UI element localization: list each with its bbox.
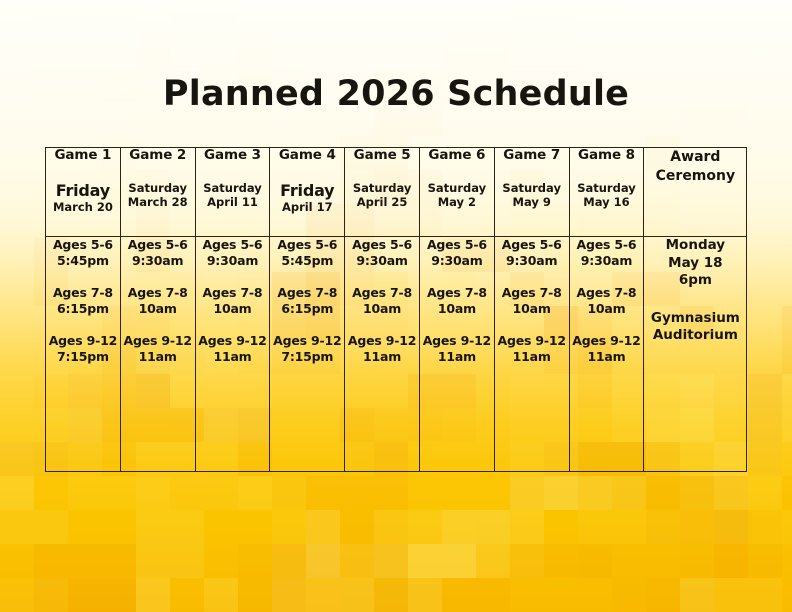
age-group-label: Ages 9-12 [196, 333, 270, 349]
game-time: 9:30am [345, 253, 419, 269]
game-date: March 20 [46, 200, 120, 214]
award-venue-line-1: Gymnasium [644, 310, 746, 328]
game-times-cell: Ages 5-65:45pmAges 7-86:15pmAges 9-127:1… [270, 237, 345, 472]
game-time: 11am [420, 349, 494, 365]
game-date: May 16 [570, 195, 644, 209]
game-time: 10am [495, 301, 569, 317]
award-ceremony-header-cell: AwardCeremony [644, 148, 747, 237]
game-date-block: SaturdayMay 2 [420, 181, 494, 209]
game-time: 9:30am [196, 253, 270, 269]
game-day-of-week: Saturday [345, 181, 419, 195]
game-date-block: SaturdayMay 9 [495, 181, 569, 209]
game-times-cell: Ages 5-69:30amAges 7-810amAges 9-1211am [120, 237, 195, 472]
age-group-label: Ages 5-6 [270, 237, 344, 253]
age-group-label: Ages 7-8 [270, 285, 344, 301]
age-group-slot: Ages 5-69:30am [345, 237, 419, 268]
game-name: Game 7 [495, 148, 569, 164]
game-time: 10am [420, 301, 494, 317]
game-date: March 28 [121, 195, 195, 209]
game-time: 10am [570, 301, 644, 317]
game-date-block: FridayMarch 20 [46, 181, 120, 215]
game-times-cell: Ages 5-69:30amAges 7-810amAges 9-1211am [494, 237, 569, 472]
game-header-cell: Game 8SaturdayMay 16 [569, 148, 644, 237]
table-header-row: Game 1FridayMarch 20Game 2SaturdayMarch … [46, 148, 747, 237]
game-header-cell: Game 5SaturdayApril 25 [345, 148, 420, 237]
award-time: 6pm [644, 272, 746, 290]
game-name: Game 3 [196, 148, 270, 164]
age-group-label: Ages 7-8 [196, 285, 270, 301]
age-group-slot: Ages 5-69:30am [570, 237, 644, 268]
game-date: April 17 [270, 200, 344, 214]
age-group-label: Ages 7-8 [121, 285, 195, 301]
age-group-slot: Ages 9-1211am [570, 333, 644, 364]
age-group-slot: Ages 5-69:30am [495, 237, 569, 268]
game-time: 10am [196, 301, 270, 317]
age-group-label: Ages 5-6 [420, 237, 494, 253]
age-group-label: Ages 9-12 [495, 333, 569, 349]
schedule-poster: Planned 2026 Schedule Game 1FridayMarch … [0, 0, 792, 612]
age-group-label: Ages 5-6 [196, 237, 270, 253]
age-group-slot: Ages 7-810am [570, 285, 644, 316]
game-day-of-week: Friday [46, 181, 120, 201]
age-group-slot: Ages 7-810am [345, 285, 419, 316]
game-date: May 9 [495, 195, 569, 209]
age-group-label: Ages 9-12 [345, 333, 419, 349]
game-time: 5:45pm [270, 253, 344, 269]
age-group-label: Ages 5-6 [495, 237, 569, 253]
age-group-slot: Ages 5-69:30am [121, 237, 195, 268]
game-day-of-week: Saturday [196, 181, 270, 195]
age-group-slot: Ages 5-69:30am [420, 237, 494, 268]
game-date-block: FridayApril 17 [270, 181, 344, 215]
award-ceremony-details-cell: MondayMay 186pmGymnasiumAuditorium [644, 237, 747, 472]
game-time: 6:15pm [270, 301, 344, 317]
game-date: April 25 [345, 195, 419, 209]
age-group-slot: Ages 7-810am [121, 285, 195, 316]
game-day-of-week: Saturday [420, 181, 494, 195]
game-time: 11am [121, 349, 195, 365]
age-group-slot: Ages 9-1211am [345, 333, 419, 364]
game-date-block: SaturdayApril 25 [345, 181, 419, 209]
table-body-row: Ages 5-65:45pmAges 7-86:15pmAges 9-127:1… [46, 237, 747, 472]
age-group-slot: Ages 7-86:15pm [46, 285, 120, 316]
award-header-line-1: Award [644, 148, 746, 167]
game-name: Game 2 [121, 148, 195, 164]
game-header-cell: Game 6SaturdayMay 2 [419, 148, 494, 237]
age-group-slot: Ages 9-1211am [121, 333, 195, 364]
game-time: 10am [121, 301, 195, 317]
game-day-of-week: Saturday [570, 181, 644, 195]
age-group-label: Ages 9-12 [46, 333, 120, 349]
game-time: 9:30am [570, 253, 644, 269]
award-venue-line-2: Auditorium [644, 327, 746, 345]
age-group-label: Ages 5-6 [121, 237, 195, 253]
age-group-label: Ages 7-8 [46, 285, 120, 301]
age-group-label: Ages 7-8 [570, 285, 644, 301]
age-group-label: Ages 7-8 [420, 285, 494, 301]
award-day-of-week: Monday [644, 237, 746, 255]
game-name: Game 6 [420, 148, 494, 164]
age-group-slot: Ages 9-1211am [420, 333, 494, 364]
game-header-cell: Game 1FridayMarch 20 [46, 148, 121, 237]
award-header-line-2: Ceremony [644, 167, 746, 186]
age-group-slot: Ages 5-65:45pm [270, 237, 344, 268]
age-group-label: Ages 7-8 [345, 285, 419, 301]
age-group-label: Ages 9-12 [570, 333, 644, 349]
game-date-block: SaturdayMarch 28 [121, 181, 195, 209]
game-day-of-week: Friday [270, 181, 344, 201]
age-group-slot: Ages 5-69:30am [196, 237, 270, 268]
page-title: Planned 2026 Schedule [0, 74, 792, 114]
game-times-cell: Ages 5-69:30amAges 7-810amAges 9-1211am [195, 237, 270, 472]
game-time: 7:15pm [270, 349, 344, 365]
game-time: 11am [196, 349, 270, 365]
game-date-block: SaturdayApril 11 [196, 181, 270, 209]
game-times-cell: Ages 5-69:30amAges 7-810amAges 9-1211am [569, 237, 644, 472]
game-times-cell: Ages 5-69:30amAges 7-810amAges 9-1211am [419, 237, 494, 472]
game-day-of-week: Saturday [121, 181, 195, 195]
game-time: 5:45pm [46, 253, 120, 269]
age-group-slot: Ages 7-810am [196, 285, 270, 316]
schedule-table: Game 1FridayMarch 20Game 2SaturdayMarch … [45, 147, 747, 472]
age-group-label: Ages 5-6 [570, 237, 644, 253]
game-times-cell: Ages 5-69:30amAges 7-810amAges 9-1211am [345, 237, 420, 472]
game-time: 11am [495, 349, 569, 365]
game-date: April 11 [196, 195, 270, 209]
game-name: Game 8 [570, 148, 644, 164]
award-date: May 18 [644, 255, 746, 273]
game-name: Game 5 [345, 148, 419, 164]
game-time: 9:30am [495, 253, 569, 269]
game-time: 11am [570, 349, 644, 365]
age-group-slot: Ages 5-65:45pm [46, 237, 120, 268]
age-group-label: Ages 5-6 [345, 237, 419, 253]
game-header-cell: Game 4FridayApril 17 [270, 148, 345, 237]
age-group-label: Ages 7-8 [495, 285, 569, 301]
game-header-cell: Game 2SaturdayMarch 28 [120, 148, 195, 237]
game-time: 10am [345, 301, 419, 317]
age-group-slot: Ages 9-127:15pm [46, 333, 120, 364]
age-group-slot: Ages 9-1211am [495, 333, 569, 364]
age-group-slot: Ages 7-810am [420, 285, 494, 316]
game-date: May 2 [420, 195, 494, 209]
game-time: 7:15pm [46, 349, 120, 365]
game-header-cell: Game 7SaturdayMay 9 [494, 148, 569, 237]
age-group-slot: Ages 9-127:15pm [270, 333, 344, 364]
age-group-slot: Ages 9-1211am [196, 333, 270, 364]
game-time: 6:15pm [46, 301, 120, 317]
game-time: 9:30am [121, 253, 195, 269]
age-group-slot: Ages 7-86:15pm [270, 285, 344, 316]
game-day-of-week: Saturday [495, 181, 569, 195]
game-time: 11am [345, 349, 419, 365]
age-group-slot: Ages 7-810am [495, 285, 569, 316]
age-group-label: Ages 9-12 [121, 333, 195, 349]
age-group-label: Ages 9-12 [420, 333, 494, 349]
game-name: Game 4 [270, 148, 344, 164]
game-time: 9:30am [420, 253, 494, 269]
award-venue: GymnasiumAuditorium [644, 310, 746, 346]
game-times-cell: Ages 5-65:45pmAges 7-86:15pmAges 9-127:1… [46, 237, 121, 472]
game-header-cell: Game 3SaturdayApril 11 [195, 148, 270, 237]
age-group-label: Ages 9-12 [270, 333, 344, 349]
age-group-label: Ages 5-6 [46, 237, 120, 253]
game-date-block: SaturdayMay 16 [570, 181, 644, 209]
game-name: Game 1 [46, 148, 120, 164]
